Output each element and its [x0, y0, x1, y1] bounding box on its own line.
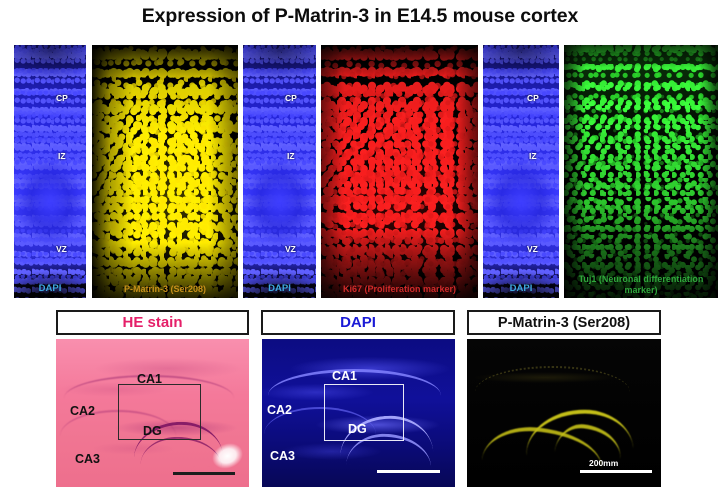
- region-label-ca1: CA1: [332, 369, 357, 383]
- cortex-panel-tuj1: Tuj1 (Neuronal differentiation marker): [564, 45, 718, 298]
- ki67-fluorescence-texture: [321, 45, 478, 298]
- scale-bar-label: 200mm: [589, 458, 618, 468]
- hippocampus-header-dapi: DAPI: [261, 310, 455, 335]
- panel-image: [14, 45, 86, 298]
- figure-root: Expression of P-Matrin-3 in E14.5 mouse …: [0, 0, 720, 500]
- hippocampus-panel-pmatrin3: 200mm: [467, 339, 661, 487]
- hippocampus-header-pmatrin3: P-Matrin-3 (Ser208): [467, 310, 661, 335]
- scale-bar: [377, 470, 440, 473]
- tuj1-fluorescence-texture: [564, 45, 718, 298]
- region-label-vz: VZ: [527, 244, 538, 254]
- region-label-cp: CP: [527, 93, 539, 103]
- panel-caption-ki67: Ki67 (Proliferation marker): [321, 284, 478, 295]
- region-label-dg: DG: [143, 424, 162, 438]
- region-label-vz: VZ: [285, 244, 296, 254]
- dapi-fluorescence-texture: [14, 45, 86, 298]
- region-label-ca2: CA2: [267, 403, 292, 417]
- panel-image: [483, 45, 559, 298]
- region-label-cp: CP: [56, 93, 68, 103]
- region-label-ca3: CA3: [270, 449, 295, 463]
- region-label-dg: DG: [348, 422, 367, 436]
- header-label: DAPI: [340, 314, 376, 331]
- region-label-cp: CP: [285, 93, 297, 103]
- hippocampus-header-he-stain: HE stain: [56, 310, 249, 335]
- region-label-iz: IZ: [58, 151, 66, 161]
- cortex-panel-pmatrin3: P-Matrin-3 (Ser208): [92, 45, 238, 298]
- region-label-ca3: CA3: [75, 452, 100, 466]
- panel-caption-dapi-1: DAPI: [14, 284, 86, 295]
- region-label-ca1: CA1: [137, 372, 162, 386]
- panel-image: [92, 45, 238, 298]
- figure-title: Expression of P-Matrin-3 in E14.5 mouse …: [0, 5, 720, 28]
- region-label-iz: IZ: [529, 151, 537, 161]
- cortex-panel-ki67: Ki67 (Proliferation marker): [321, 45, 478, 298]
- panel-image: [321, 45, 478, 298]
- region-label-vz: VZ: [56, 244, 67, 254]
- faint-ca-band: [475, 366, 630, 418]
- panel-caption-pmatrin3: P-Matrin-3 (Ser208): [92, 284, 238, 295]
- scale-bar: [173, 472, 235, 475]
- pmatrin3-hippocampus-image: [467, 339, 661, 487]
- scale-bar: [580, 470, 652, 473]
- dapi-fluorescence-texture: [483, 45, 559, 298]
- hippocampus-panel-he-stain: CA1 CA2 CA3 DG: [56, 339, 249, 487]
- cortex-panel-dapi-1: CP IZ VZ DAPI: [14, 45, 86, 298]
- header-label: HE stain: [122, 314, 182, 331]
- panel-caption-tuj1: Tuj1 (Neuronal differentiation marker): [564, 274, 718, 295]
- cortex-panel-dapi-2: CP IZ VZ DAPI: [243, 45, 316, 298]
- pmatrin3-fluorescence-texture: [92, 45, 238, 298]
- panel-image: [243, 45, 316, 298]
- panel-caption-dapi-2: DAPI: [243, 284, 316, 295]
- panel-image: [564, 45, 718, 298]
- region-label-ca2: CA2: [70, 404, 95, 418]
- cortex-panel-dapi-3: CP IZ VZ DAPI: [483, 45, 559, 298]
- panel-caption-dapi-3: DAPI: [483, 284, 559, 295]
- dapi-fluorescence-texture: [243, 45, 316, 298]
- hippocampus-panel-dapi: CA1 CA2 CA3 DG: [262, 339, 455, 487]
- region-label-iz: IZ: [287, 151, 295, 161]
- header-label: P-Matrin-3 (Ser208): [498, 315, 630, 331]
